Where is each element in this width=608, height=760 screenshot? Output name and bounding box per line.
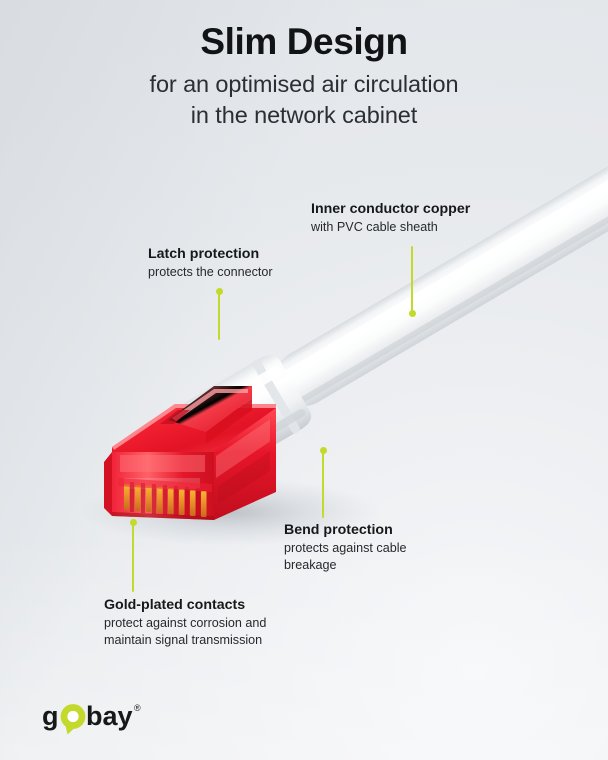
leader-dot-bend-protection: [320, 447, 327, 454]
logo-registered-mark: ®: [134, 703, 141, 713]
rj45-connector-housing: [104, 404, 276, 520]
callout-bend-title: Bend protection: [284, 521, 407, 540]
callout-inner-title: Inner conductor copper: [311, 200, 470, 219]
goobay-logo: g bay ®: [42, 698, 150, 736]
callout-bend-protection: Bend protection protects against cable b…: [284, 521, 407, 574]
callout-inner-subtitle: with PVC cable sheath: [311, 219, 470, 236]
goobay-logo-mark: g bay ®: [42, 698, 150, 736]
callout-gold-subtitle: protect against corrosion and maintain s…: [104, 615, 266, 649]
callout-latch-title: Latch protection: [148, 245, 273, 264]
leader-line-gold-contacts: [132, 524, 134, 592]
page-title: Slim Design: [0, 22, 608, 62]
subtitle-line-1: for an optimised air circulation: [0, 69, 608, 100]
leader-line-bend-protection: [322, 452, 324, 518]
leader-dot-latch: [216, 288, 223, 295]
latch-tab: [160, 386, 252, 444]
logo-letter-g: g: [42, 701, 59, 731]
logo-letters-bay: bay: [86, 701, 133, 731]
callout-inner-conductor: Inner conductor copper with PVC cable sh…: [311, 200, 470, 236]
header-block: Slim Design for an optimised air circula…: [0, 22, 608, 130]
callout-latch-protection: Latch protection protects the connector: [148, 245, 273, 281]
page-subtitle: for an optimised air circulation in the …: [0, 69, 608, 130]
infographic-canvas: Slim Design for an optimised air circula…: [0, 0, 608, 760]
gold-plated-contacts: [118, 478, 212, 518]
leader-line-inner-conductor: [411, 246, 413, 314]
callout-gold-title: Gold-plated contacts: [104, 596, 266, 615]
leader-line-latch: [218, 292, 220, 340]
callout-bend-subtitle: protects against cable breakage: [284, 540, 407, 574]
subtitle-line-2: in the network cabinet: [0, 100, 608, 131]
leader-dot-inner-conductor: [409, 310, 416, 317]
cable-body: [267, 154, 608, 415]
callout-latch-subtitle: protects the connector: [148, 264, 273, 281]
bend-protection-boot: [151, 349, 316, 493]
logo-speech-bubble-o: [61, 704, 86, 734]
leader-dot-gold-contacts: [130, 519, 137, 526]
callout-gold-plated-contacts: Gold-plated contacts protect against cor…: [104, 596, 266, 649]
